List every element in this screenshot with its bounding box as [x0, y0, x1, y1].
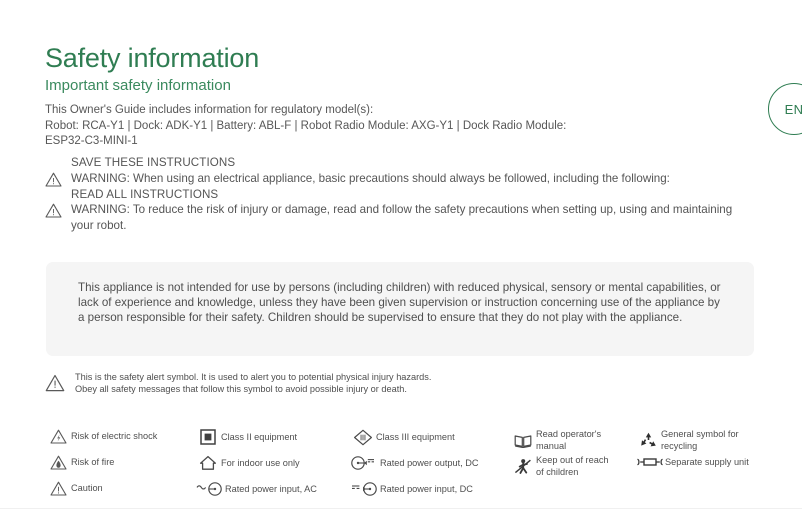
legend-item-label-2: of children [536, 467, 609, 478]
legend-item: Keep out of reach of children [510, 455, 609, 478]
regulatory-models-block: This Owner's Guide includes information … [45, 103, 745, 150]
legend-item-label-2: recycling [661, 441, 739, 452]
recycling-icon [635, 432, 661, 449]
legend-item-label: Class II equipment [221, 432, 297, 443]
warning-triangle-icon [45, 202, 71, 218]
page-title: Safety information [45, 42, 745, 74]
safety-alert-triangle-icon [45, 371, 75, 392]
fire-risk-triangle-icon [45, 455, 71, 470]
warning-row: SAVE THESE INSTRUCTIONS [45, 155, 745, 171]
warning-triangle-icon [45, 171, 71, 187]
legend-item-label-2: manual [536, 441, 601, 452]
class-2-equipment-icon [195, 429, 221, 445]
legend-item-label: Separate supply unit [665, 457, 749, 468]
language-badge-label: EN [785, 102, 802, 117]
footer-divider [0, 508, 802, 509]
safety-alert-explanation: This is the safety alert symbol. It is u… [45, 371, 790, 395]
legend-item-label: For indoor use only [221, 458, 300, 469]
legend-item: Rated power output, DC [350, 455, 479, 471]
legend-item-label: Rated power input, DC [380, 484, 473, 495]
electric-shock-triangle-icon [45, 429, 71, 444]
symbol-legend: This is the safety alert symbol. It is u… [45, 371, 790, 483]
rated-power-input-dc-icon [350, 481, 380, 497]
legend-item: Class III equipment [350, 429, 455, 446]
legend-item-label: Keep out of reach [536, 455, 609, 466]
warnings-block: SAVE THESE INSTRUCTIONS WARNING: When us… [45, 155, 745, 233]
page-header: Safety information Important safety info… [45, 42, 745, 95]
symbol-grid: Risk of electric shock Risk of fire [45, 401, 790, 483]
legend-item-label: Class III equipment [376, 432, 455, 443]
caution-triangle-icon [45, 481, 71, 496]
indoor-use-only-icon [195, 455, 221, 471]
legend-item-label: Read operator's [536, 429, 601, 440]
legend-item-label: Caution [71, 483, 103, 494]
legend-item-label: Rated power input, AC [225, 484, 317, 495]
safety-information-page: EN Safety information Important safety i… [0, 0, 802, 519]
regulatory-line-2: Robot: RCA-Y1 | Dock: ADK-Y1 | Battery: … [45, 119, 745, 135]
safety-alert-line-1: This is the safety alert symbol. It is u… [75, 371, 431, 383]
legend-item: General symbol for recycling [635, 429, 739, 452]
legend-item: For indoor use only [195, 455, 300, 471]
notice-panel: This appliance is not intended for use b… [46, 262, 754, 356]
legend-item: Separate supply unit [635, 455, 749, 469]
warning-text: SAVE THESE INSTRUCTIONS [71, 155, 745, 171]
legend-item: Risk of electric shock [45, 429, 157, 444]
warning-row: WARNING: When using an electrical applia… [45, 171, 745, 187]
warning-row: READ ALL INSTRUCTIONS [45, 187, 745, 203]
regulatory-line-3: ESP32-C3-MINI-1 [45, 134, 745, 150]
legend-item: Caution [45, 481, 103, 496]
legend-item-label: Risk of fire [71, 457, 114, 468]
regulatory-line-1: This Owner's Guide includes information … [45, 103, 745, 119]
warning-row: WARNING: To reduce the risk of injury or… [45, 202, 745, 233]
rated-power-input-ac-icon [195, 481, 225, 497]
rated-power-output-dc-icon [350, 455, 380, 471]
page-subtitle: Important safety information [45, 76, 745, 95]
legend-item: Rated power input, AC [195, 481, 317, 497]
legend-item-label: Rated power output, DC [380, 458, 479, 469]
class-3-equipment-icon [350, 429, 376, 446]
notice-panel-text: This appliance is not intended for use b… [78, 280, 728, 326]
separate-supply-unit-icon [635, 455, 665, 469]
warning-text: WARNING: To reduce the risk of injury or… [71, 202, 745, 233]
warning-text: WARNING: When using an electrical applia… [71, 171, 745, 187]
legend-item-label: General symbol for [661, 429, 739, 440]
safety-alert-line-2: Obey all safety messages that follow thi… [75, 383, 431, 395]
legend-item: Read operator's manual [510, 429, 601, 452]
warning-text: READ ALL INSTRUCTIONS [71, 187, 745, 203]
legend-item: Rated power input, DC [350, 481, 473, 497]
language-badge[interactable]: EN [768, 83, 802, 135]
legend-item: Risk of fire [45, 455, 114, 470]
legend-item-label: Risk of electric shock [71, 431, 157, 442]
keep-out-of-reach-of-children-icon [510, 458, 536, 475]
read-operators-manual-icon [510, 433, 536, 449]
legend-item: Class II equipment [195, 429, 297, 445]
